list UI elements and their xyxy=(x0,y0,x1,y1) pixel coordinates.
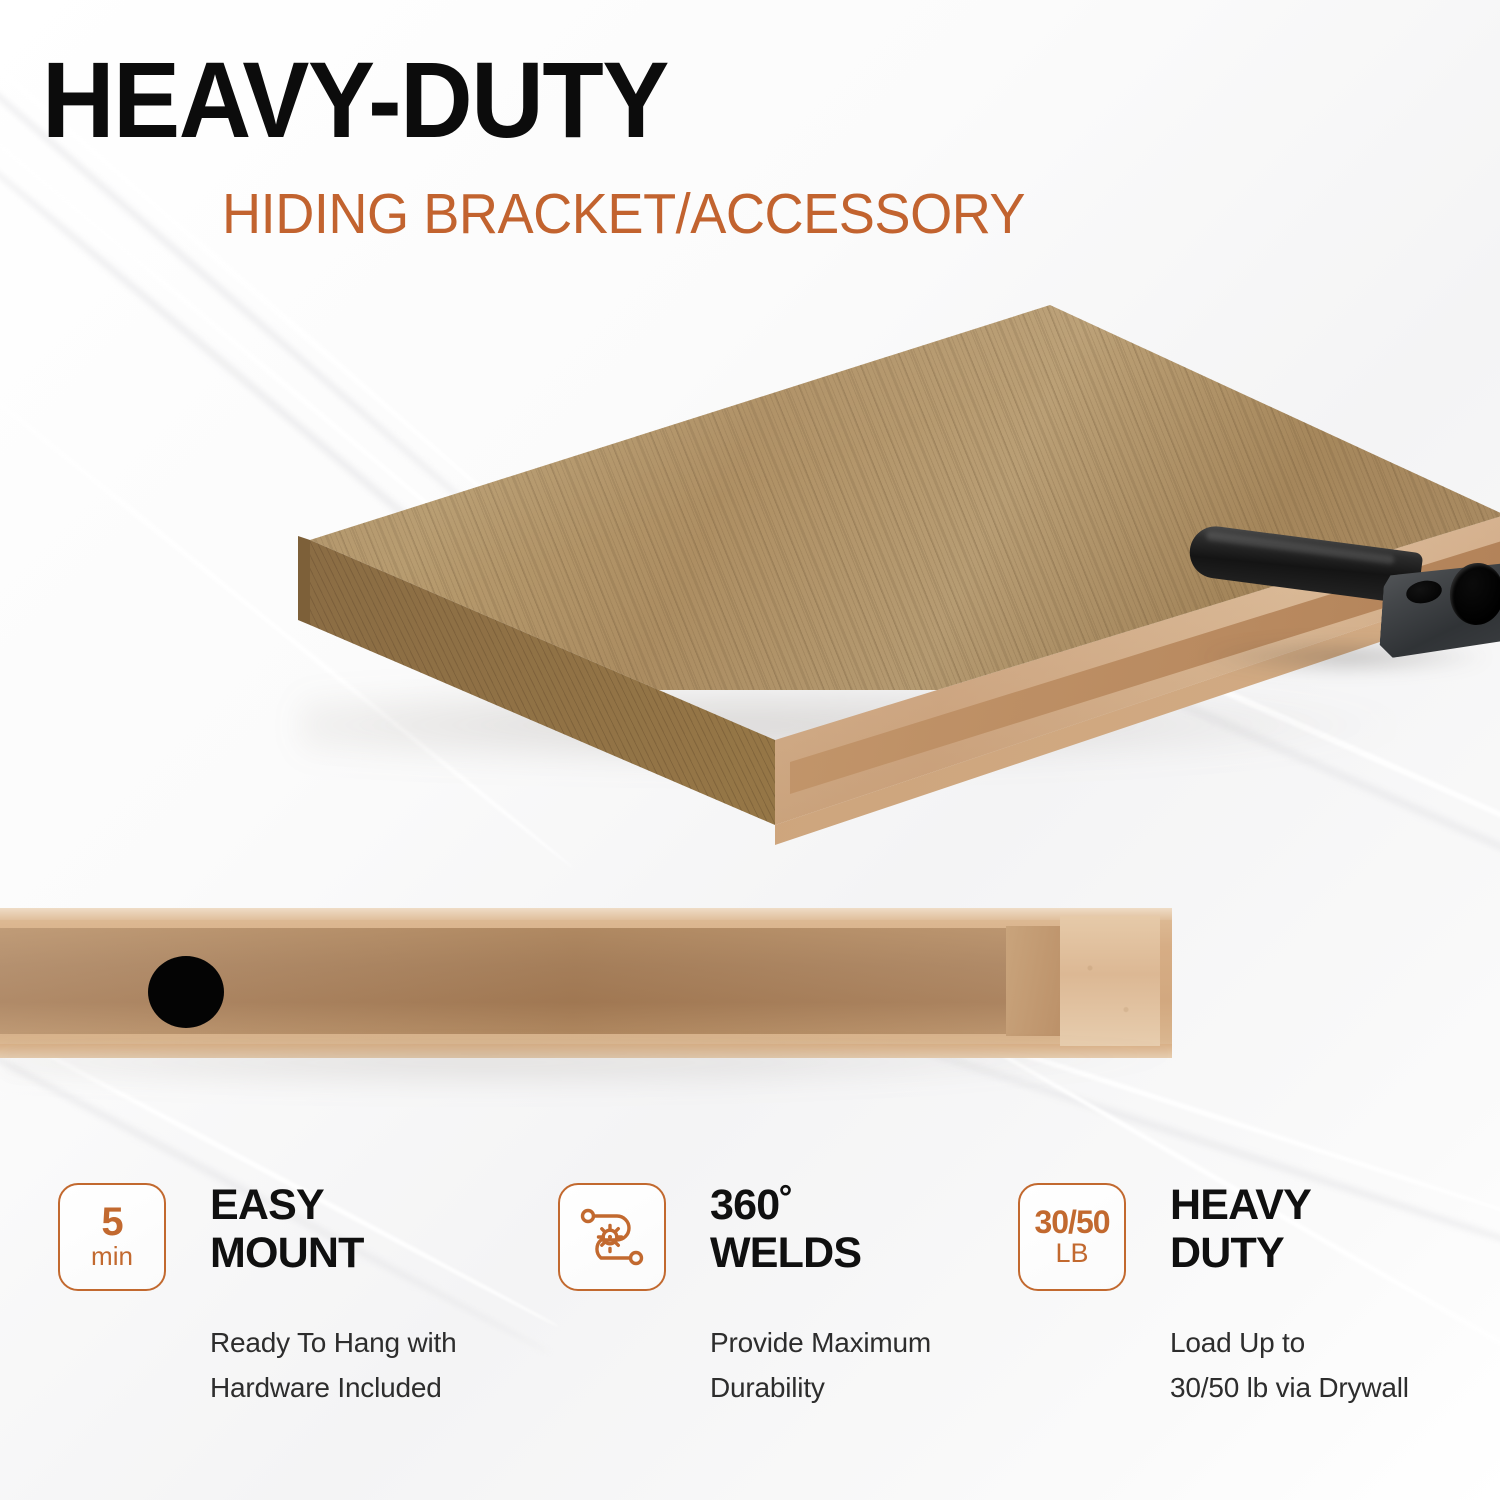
badge-value: 30/50 xyxy=(1034,1207,1109,1237)
weld-path-gear-icon xyxy=(558,1183,666,1291)
page-title: HEAVY-DUTY xyxy=(42,46,668,154)
cross-section-mounting-hole xyxy=(148,956,224,1028)
cross-section-top-edge xyxy=(0,908,1172,920)
badge-unit: LB xyxy=(1055,1239,1088,1267)
feature-heading: 360˚ WELDS xyxy=(710,1181,1010,1277)
feature-description: Provide Maximum Durability xyxy=(710,1320,1030,1411)
cross-section-end-cap xyxy=(1060,916,1160,1046)
minutes-badge-icon: 5 min xyxy=(58,1183,166,1291)
badge-unit: min xyxy=(91,1243,133,1270)
feature-row: 5 min EASY MOUNT Ready To Hang with Hard… xyxy=(0,1175,1500,1475)
weld-path-icon-glyph xyxy=(579,1207,645,1267)
cross-section-inner-wall xyxy=(1006,926,1064,1036)
feature-description: Ready To Hang with Hardware Included xyxy=(210,1320,530,1411)
page-subtitle: HIDING BRACKET/ACCESSORY xyxy=(222,186,1025,243)
cross-section-drop-shadow xyxy=(0,1050,1200,1096)
badge-value: 5 xyxy=(101,1203,122,1241)
feature-description: Load Up to 30/50 lb via Drywall xyxy=(1170,1320,1500,1411)
feature-heading: HEAVY DUTY xyxy=(1170,1181,1470,1277)
feature-heading: EASY MOUNT xyxy=(210,1181,510,1277)
hiding-bracket xyxy=(1190,505,1500,685)
weight-capacity-badge-icon: 30/50 LB xyxy=(1018,1183,1126,1291)
